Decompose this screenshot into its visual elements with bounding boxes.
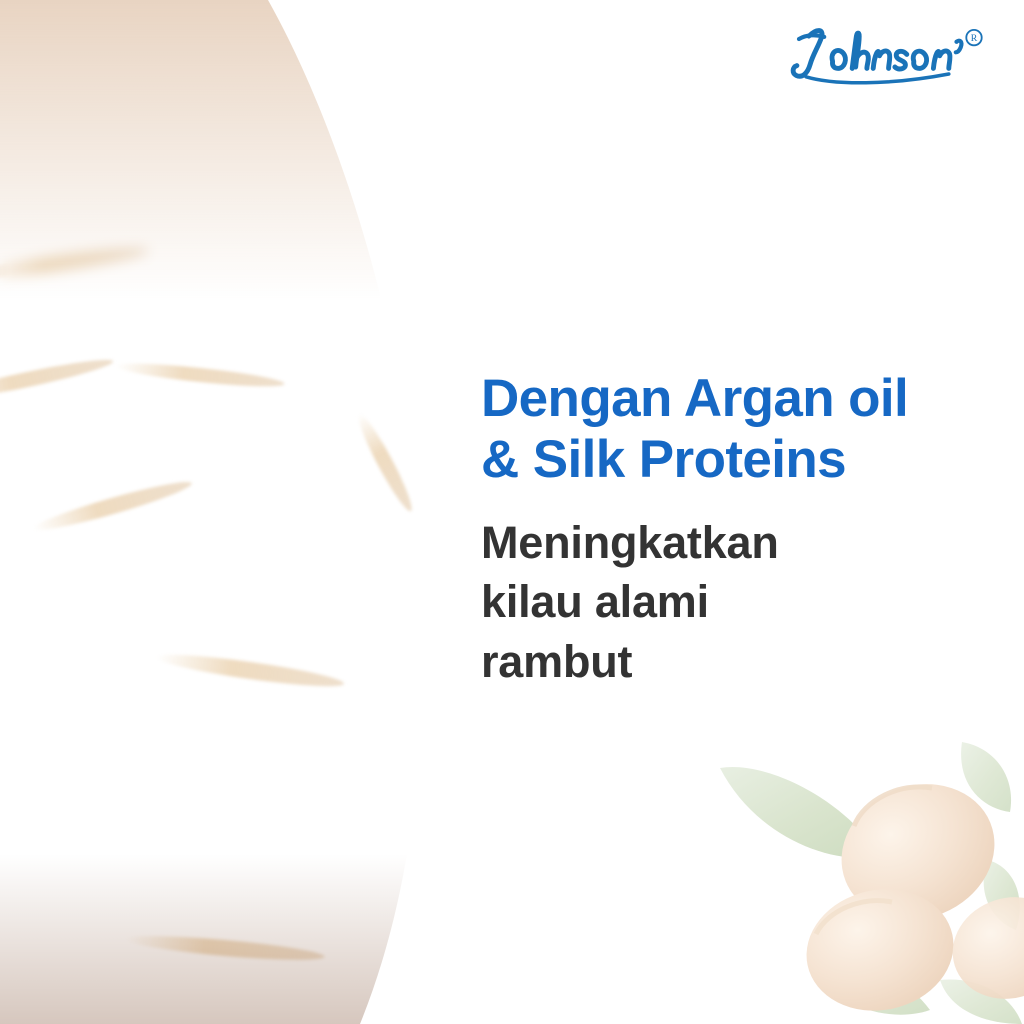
photo-top-blur xyxy=(0,0,440,300)
subheadline: Meningkatkan kilau alami rambut xyxy=(481,513,1001,691)
headline: Dengan Argan oil & Silk Proteins xyxy=(481,368,1001,491)
argan-nuts-photo xyxy=(0,0,440,1024)
argan-nuts-and-leaves-watercolor xyxy=(704,734,1024,1024)
copy-block: Dengan Argan oil & Silk Proteins Meningk… xyxy=(481,368,1001,691)
svg-text:R: R xyxy=(971,33,978,44)
promo-banner: R Dengan Argan oil & Silk Proteins Menin… xyxy=(0,0,1024,1024)
johnsons-script-logo: R xyxy=(778,18,988,88)
photo-bottom-shadow xyxy=(0,854,440,1024)
